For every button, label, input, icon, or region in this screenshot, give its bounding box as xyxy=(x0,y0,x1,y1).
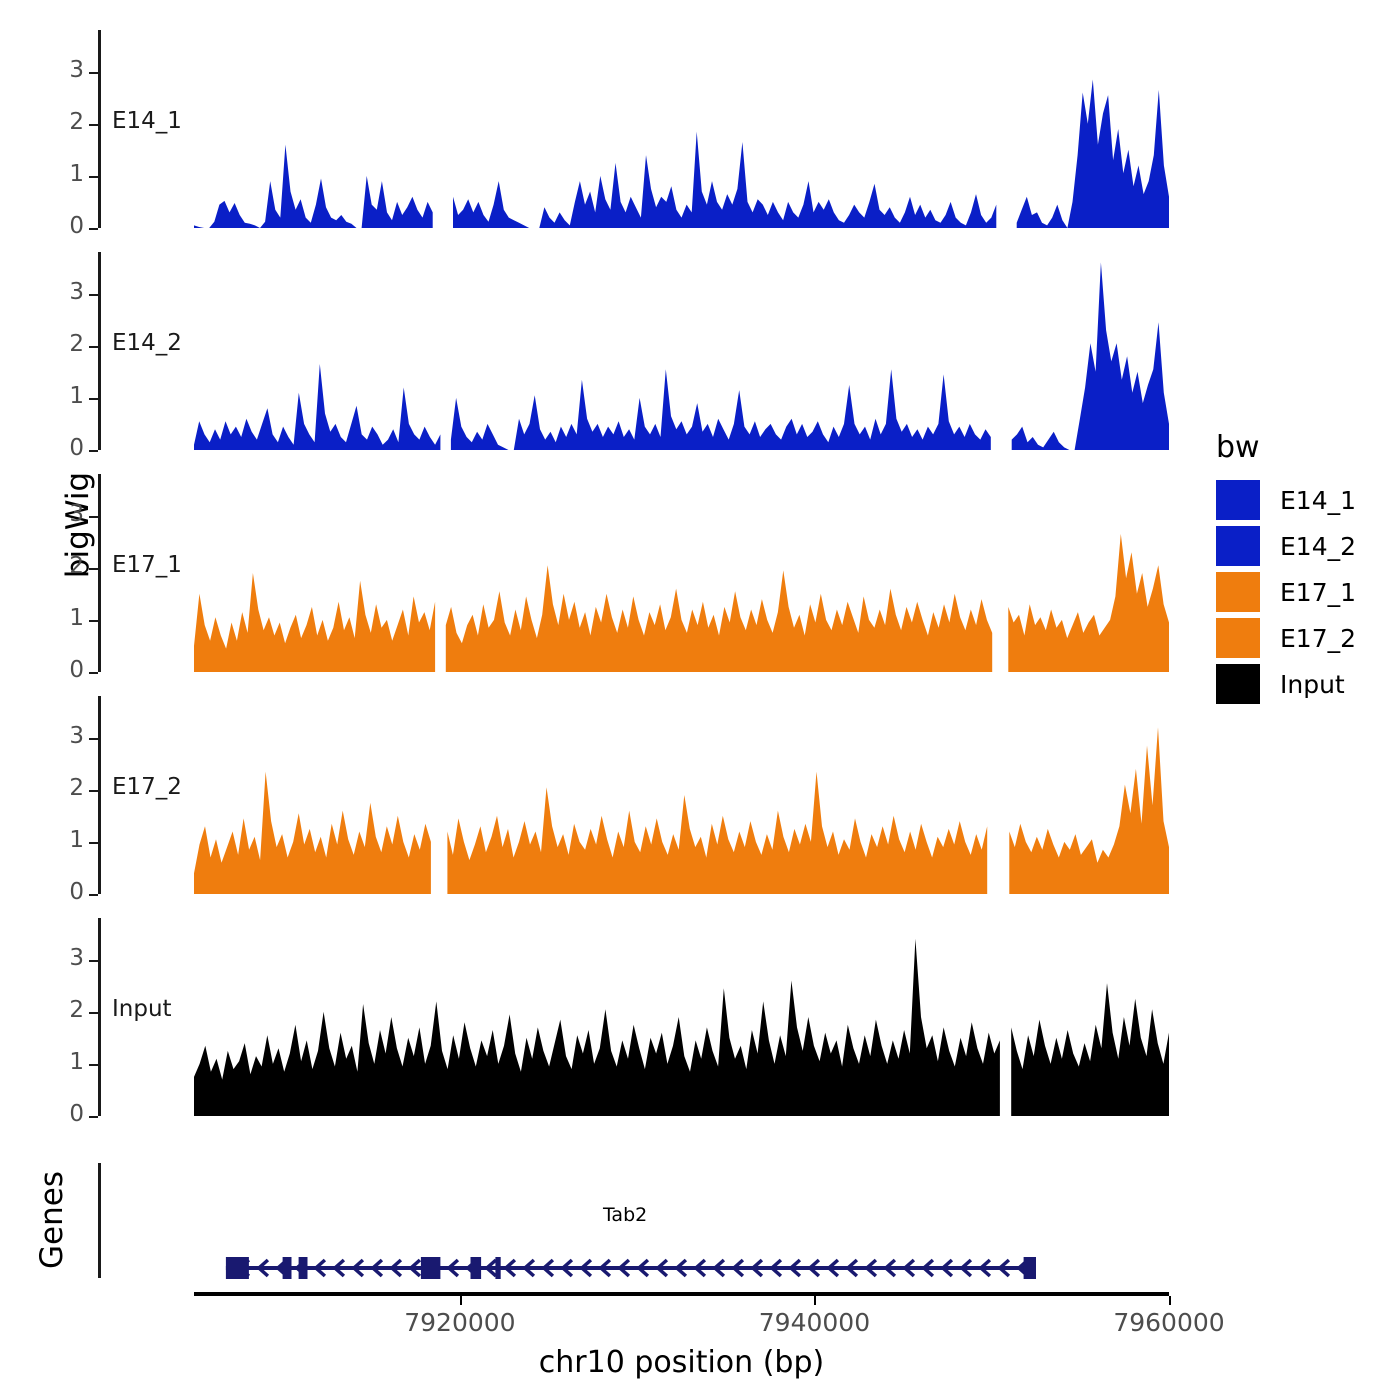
y-tick-label-E14_2-3: 3 xyxy=(24,279,84,305)
legend-label-E14_1: E14_1 xyxy=(1280,486,1356,515)
y-tick-E14_2-0 xyxy=(89,450,98,452)
x-tick-7920000 xyxy=(460,1296,462,1305)
y-axis-line-E17_1 xyxy=(98,474,101,672)
x-tick-7960000 xyxy=(1169,1296,1171,1305)
y-tick-label-Input-0: 0 xyxy=(24,1101,84,1127)
panel-label-E17_1: E17_1 xyxy=(112,552,182,578)
x-axis-line xyxy=(194,1292,1169,1296)
signal-track-E14_1[interactable] xyxy=(194,30,1169,228)
legend: bw E14_1E14_2E17_1E17_2Input xyxy=(1216,430,1356,709)
y-tick-label-E14_2-1: 1 xyxy=(24,383,84,409)
y-tick-label-Input-2: 2 xyxy=(24,997,84,1023)
panel-label-E14_1: E14_1 xyxy=(112,108,182,134)
legend-swatch-E17_1 xyxy=(1216,572,1260,612)
legend-item-E17_1[interactable]: E17_1 xyxy=(1216,571,1356,613)
legend-swatch-E17_2 xyxy=(1216,618,1260,658)
y-tick-label-E17_2-1: 1 xyxy=(24,827,84,853)
y-tick-label-E14_1-0: 0 xyxy=(24,213,84,239)
y-axis-line-E17_2 xyxy=(98,696,101,894)
y-tick-label-E17_2-0: 0 xyxy=(24,879,84,905)
y-tick-E14_2-3 xyxy=(89,294,98,296)
x-axis-title: chr10 position (bp) xyxy=(194,1345,1169,1380)
y-tick-E17_1-3 xyxy=(89,516,98,518)
y-tick-E17_2-2 xyxy=(89,790,98,792)
y-tick-label-E17_2-2: 2 xyxy=(24,775,84,801)
legend-item-Input[interactable]: Input xyxy=(1216,663,1356,705)
panel-label-E17_2: E17_2 xyxy=(112,774,182,800)
legend-label-E14_2: E14_2 xyxy=(1280,532,1356,561)
y-tick-label-E14_1-1: 1 xyxy=(24,161,84,187)
y-tick-Input-1 xyxy=(89,1064,98,1066)
gene-model-track[interactable] xyxy=(194,1248,1169,1288)
y-tick-E17_1-1 xyxy=(89,620,98,622)
signal-track-E17_2[interactable] xyxy=(194,696,1169,894)
panel-label-Input: Input xyxy=(112,996,172,1022)
legend-swatch-Input xyxy=(1216,664,1260,704)
y-axis-line-Input xyxy=(98,918,101,1116)
y-tick-E17_2-1 xyxy=(89,842,98,844)
y-tick-E14_1-1 xyxy=(89,176,98,178)
y-tick-label-E14_1-3: 3 xyxy=(24,57,84,83)
y-tick-E17_1-0 xyxy=(89,672,98,674)
y-tick-E17_2-3 xyxy=(89,738,98,740)
y-tick-Input-3 xyxy=(89,960,98,962)
y-tick-label-E17_1-3: 3 xyxy=(24,501,84,527)
legend-title: bw xyxy=(1216,430,1356,465)
y-tick-E14_1-3 xyxy=(89,72,98,74)
y-axis-label-genes: Genes xyxy=(32,1160,72,1280)
y-tick-E14_2-2 xyxy=(89,346,98,348)
legend-item-E14_2[interactable]: E14_2 xyxy=(1216,525,1356,567)
y-axis-line-E14_1 xyxy=(98,30,101,228)
legend-label-Input: Input xyxy=(1280,670,1345,699)
genes-axis-line xyxy=(98,1163,101,1278)
legend-label-E17_2: E17_2 xyxy=(1280,624,1356,653)
y-tick-Input-2 xyxy=(89,1012,98,1014)
y-tick-E14_2-1 xyxy=(89,398,98,400)
x-tick-label-7920000: 7920000 xyxy=(360,1308,560,1337)
signal-track-Input[interactable] xyxy=(194,918,1169,1116)
y-tick-label-E14_2-0: 0 xyxy=(24,435,84,461)
y-tick-E17_2-0 xyxy=(89,894,98,896)
y-tick-label-E17_1-2: 2 xyxy=(24,553,84,579)
y-tick-label-E14_2-2: 2 xyxy=(24,331,84,357)
y-axis-line-E14_2 xyxy=(98,252,101,450)
x-tick-7940000 xyxy=(814,1296,816,1305)
signal-track-E14_2[interactable] xyxy=(194,252,1169,450)
gene-label-tab2: Tab2 xyxy=(603,1204,647,1226)
y-tick-label-E17_1-1: 1 xyxy=(24,605,84,631)
legend-item-E14_1[interactable]: E14_1 xyxy=(1216,479,1356,521)
y-tick-label-E17_2-3: 3 xyxy=(24,723,84,749)
panel-label-E14_2: E14_2 xyxy=(112,330,182,356)
y-tick-E14_1-2 xyxy=(89,124,98,126)
legend-item-E17_2[interactable]: E17_2 xyxy=(1216,617,1356,659)
y-tick-label-Input-1: 1 xyxy=(24,1049,84,1075)
legend-label-E17_1: E17_1 xyxy=(1280,578,1356,607)
x-tick-label-7940000: 7940000 xyxy=(714,1308,914,1337)
y-tick-E14_1-0 xyxy=(89,228,98,230)
legend-swatch-E14_2 xyxy=(1216,526,1260,566)
x-tick-label-7960000: 7960000 xyxy=(1069,1308,1269,1337)
signal-track-E17_1[interactable] xyxy=(194,474,1169,672)
legend-swatch-E14_1 xyxy=(1216,480,1260,520)
y-tick-label-Input-3: 3 xyxy=(24,945,84,971)
y-tick-label-E17_1-0: 0 xyxy=(24,657,84,683)
y-tick-E17_1-2 xyxy=(89,568,98,570)
y-tick-label-E14_1-2: 2 xyxy=(24,109,84,135)
y-tick-Input-0 xyxy=(89,1116,98,1118)
